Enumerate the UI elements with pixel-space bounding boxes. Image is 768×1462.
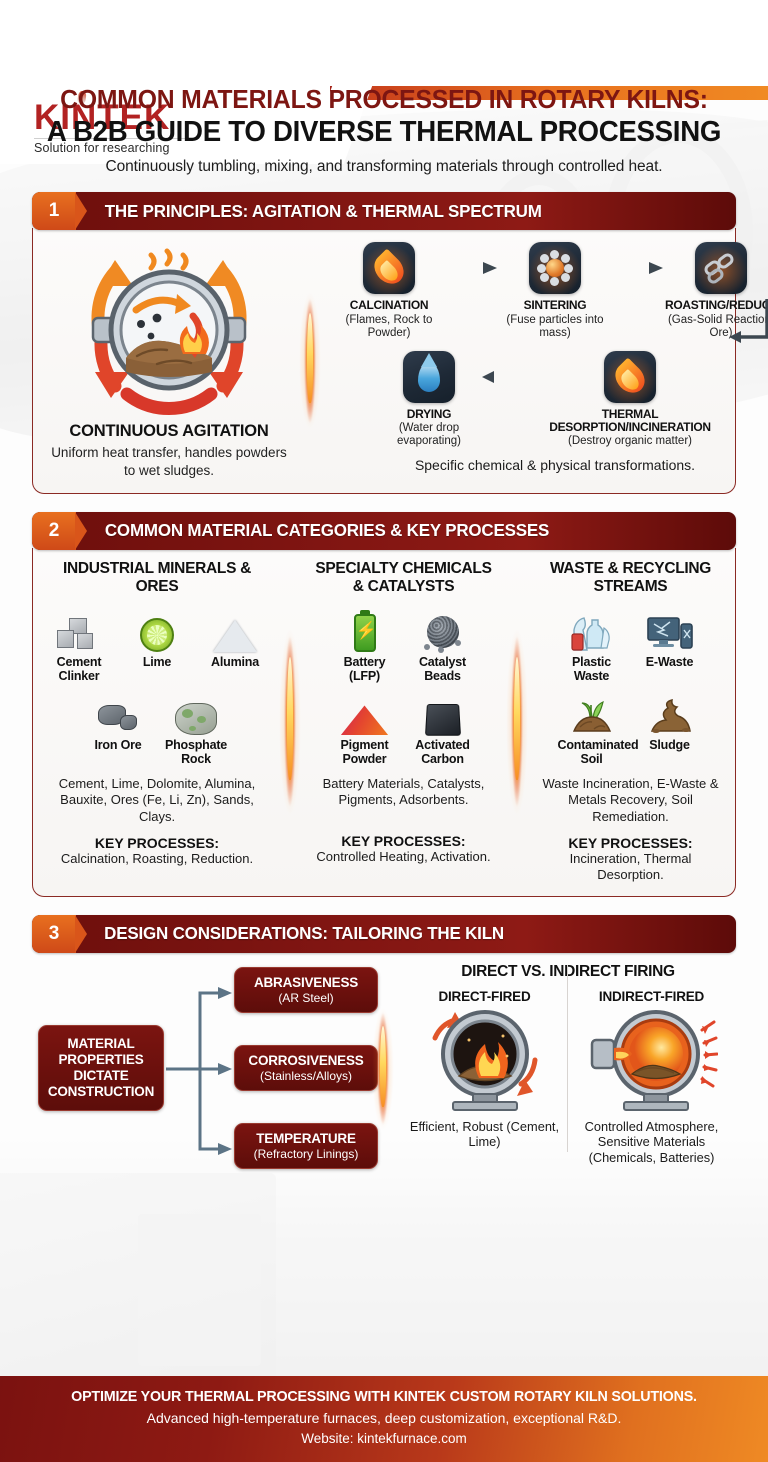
footer-website[interactable]: Website: kintekfurnace.com: [0, 1431, 768, 1446]
process-sub: (Flames, Rock to Powder): [333, 314, 445, 341]
footer-cta: OPTIMIZE YOUR THERMAL PROCESSING WITH KI…: [0, 1376, 768, 1462]
category-description: Waste Incineration, E-Waste & Metals Rec…: [538, 776, 723, 825]
flame-divider: [273, 560, 307, 884]
section-3-number: 3: [32, 915, 76, 953]
section-2-title: COMMON MATERIAL CATEGORIES & KEY PROCESS…: [105, 520, 549, 541]
water-drop-icon: [403, 351, 455, 403]
material-label: Sludge: [636, 739, 704, 753]
category-heading: WASTE & RECYCLING STREAMS: [538, 560, 723, 598]
page-title-line1: COMMON MATERIALS PROCESSED IN ROTARY KIL…: [31, 86, 737, 115]
section-2-body: INDUSTRIAL MINERALS & ORES Cement Clinke…: [32, 548, 736, 897]
material-contaminated-soil: Contaminated Soil: [558, 691, 626, 767]
continuous-agitation-block: CONTINUOUS AGITATION Uniform heat transf…: [45, 242, 293, 479]
material-label: Iron Ore: [84, 739, 152, 753]
section-1-number: 1: [32, 192, 76, 230]
battery-icon: [331, 608, 399, 652]
agitation-body: Uniform heat transfer, handles powders t…: [45, 444, 293, 479]
indirect-fired-column: INDIRECT-FIRED: [571, 989, 732, 1167]
rotary-kiln-drum-icon: [71, 246, 267, 416]
material-pigment-powder: Pigment Powder: [331, 691, 399, 767]
category-description: Cement, Lime, Dolomite, Alumina, Bauxite…: [45, 776, 269, 825]
page-title-line2: A B2B GUIDE TO DIVERSE THERMAL PROCESSIN…: [31, 117, 737, 149]
direct-fired-kiln-icon: [419, 1008, 551, 1116]
key-processes-label: KEY PROCESSES:: [538, 835, 723, 851]
arrow-right-icon: [447, 242, 497, 294]
process-name: SINTERING: [499, 299, 611, 312]
process-sub: (Water drop evaporating): [380, 422, 478, 449]
property-sub: (Refractory Linings): [240, 1147, 372, 1161]
section-2-categories: 2 COMMON MATERIAL CATEGORIES & KEY PROCE…: [32, 512, 736, 897]
firing-label: INDIRECT-FIRED: [571, 989, 732, 1004]
process-name: CALCINATION: [333, 299, 445, 312]
activated-carbon-icon: [409, 691, 477, 735]
section-3-title: DESIGN CONSIDERATIONS: TAILORING THE KIL…: [104, 923, 504, 944]
plastic-waste-icon: [558, 608, 626, 652]
material-cement-clinker: Cement Clinker: [45, 608, 113, 684]
indirect-fired-kiln-icon: [586, 1008, 718, 1116]
pigment-powder-icon: [331, 691, 399, 735]
category-specialty-chemicals: SPECIALTY CHEMICALS & CATALYSTS Battery …: [307, 560, 500, 884]
material-iron-ore: Iron Ore: [84, 691, 152, 767]
property-temperature: TEMPERATURE (Refractory Linings): [234, 1123, 378, 1169]
material-properties-tree: MATERIAL PROPERTIES DICTATE CONSTRUCTION…: [36, 963, 366, 1175]
material-label: Catalyst Beads: [409, 656, 477, 684]
material-phosphate-rock: Phosphate Rock: [162, 691, 230, 767]
material-alumina: Alumina: [201, 608, 269, 684]
material-label: Plastic Waste: [558, 656, 626, 684]
flame-icon: [604, 351, 656, 403]
root-label: MATERIAL PROPERTIES DICTATE CONSTRUCTION: [38, 1025, 164, 1112]
material-label: Activated Carbon: [409, 739, 477, 767]
firing-heading: DIRECT VS. INDIRECT FIRING: [404, 963, 732, 981]
property-label: TEMPERATURE: [240, 1131, 372, 1146]
property-label: CORROSIVENESS: [240, 1053, 372, 1068]
material-sludge: Sludge: [636, 691, 704, 767]
key-processes-value: Calcination, Roasting, Reduction.: [45, 851, 269, 867]
arrow-left-icon: [482, 351, 526, 403]
thermal-spectrum-block: CALCINATION (Flames, Rock to Powder): [327, 242, 768, 479]
firing-comparison: DIRECT VS. INDIRECT FIRING DIRECT-FIRED: [400, 963, 732, 1175]
header-titles: COMMON MATERIALS PROCESSED IN ROTARY KIL…: [0, 86, 768, 176]
material-label: Pigment Powder: [331, 739, 399, 767]
section-1-body: CONTINUOUS AGITATION Uniform heat transf…: [32, 228, 736, 494]
flame-divider: [366, 963, 400, 1175]
material-label: Battery (LFP): [331, 656, 399, 684]
section-1-header: 1 THE PRINCIPLES: AGITATION & THERMAL SP…: [32, 192, 736, 230]
cement-clinker-icon: [45, 608, 113, 652]
contaminated-soil-icon: [558, 691, 626, 735]
process-sintering: SINTERING (Fuse particles into mass): [499, 242, 611, 340]
firing-caption: Controlled Atmosphere, Sensitive Materia…: [571, 1119, 732, 1167]
process-drying: DRYING (Water drop evaporating): [380, 351, 478, 449]
agitation-heading: CONTINUOUS AGITATION: [45, 422, 293, 441]
category-heading: SPECIALTY CHEMICALS & CATALYSTS: [311, 560, 496, 598]
key-processes-value: Controlled Heating, Activation.: [311, 849, 496, 865]
firing-label: DIRECT-FIRED: [404, 989, 565, 1004]
direct-fired-column: DIRECT-FIRED: [404, 989, 565, 1167]
material-label: Alumina: [201, 656, 269, 670]
key-processes-label: KEY PROCESSES:: [311, 833, 496, 849]
lime-icon: [123, 608, 191, 652]
section-3-design: 3 DESIGN CONSIDERATIONS: TAILORING THE K…: [32, 915, 736, 1175]
process-sub: (Destroy organic matter): [530, 435, 730, 448]
material-battery: Battery (LFP): [331, 608, 399, 684]
category-industrial-minerals: INDUSTRIAL MINERALS & ORES Cement Clinke…: [41, 560, 273, 884]
property-label: ABRASIVENESS: [240, 975, 372, 990]
flame-divider: [293, 242, 327, 479]
material-plastic-waste: Plastic Waste: [558, 608, 626, 684]
e-waste-icon: [636, 608, 704, 652]
process-sub: (Fuse particles into mass): [499, 314, 611, 341]
property-abrasiveness: ABRASIVENESS (AR Steel): [234, 967, 378, 1013]
material-activated-carbon: Activated Carbon: [409, 691, 477, 767]
category-waste-recycling: WASTE & RECYCLING STREAMS Plastic Waste: [534, 560, 727, 884]
sludge-icon: [636, 691, 704, 735]
property-sub: (Stainless/Alloys): [240, 1069, 372, 1083]
key-processes-value: Incineration, Thermal Desorption.: [538, 851, 723, 884]
process-name: THERMAL DESORPTION/INCINERATION: [530, 408, 730, 435]
footer-line1: OPTIMIZE YOUR THERMAL PROCESSING WITH KI…: [8, 1389, 761, 1405]
firing-caption: Efficient, Robust (Cement, Lime): [404, 1119, 565, 1151]
chain-link-icon: [695, 242, 747, 294]
section-3-header: 3 DESIGN CONSIDERATIONS: TAILORING THE K…: [32, 915, 736, 953]
process-thermal-desorption: THERMAL DESORPTION/INCINERATION (Destroy…: [530, 351, 730, 449]
material-label: Contaminated Soil: [558, 739, 626, 767]
sintering-particle-icon: [529, 242, 581, 294]
property-sub: (AR Steel): [240, 991, 372, 1005]
material-catalyst-beads: Catalyst Beads: [409, 608, 477, 684]
key-processes-label: KEY PROCESSES:: [45, 835, 269, 851]
section-2-number: 2: [32, 512, 76, 550]
section-1-title: THE PRINCIPLES: AGITATION & THERMAL SPEC…: [105, 201, 542, 222]
page-subtitle: Continuously tumbling, mixing, and trans…: [20, 158, 748, 176]
section-1-principles: 1 THE PRINCIPLES: AGITATION & THERMAL SP…: [32, 192, 736, 494]
footer-line2: Advanced high-temperature furnaces, deep…: [0, 1410, 768, 1426]
section-3-body: MATERIAL PROPERTIES DICTATE CONSTRUCTION…: [32, 951, 736, 1175]
material-label: Cement Clinker: [45, 656, 113, 684]
material-label: Phosphate Rock: [162, 739, 230, 767]
iron-ore-icon: [84, 691, 152, 735]
alumina-powder-icon: [201, 608, 269, 652]
material-label: E-Waste: [636, 656, 704, 670]
process-calcination: CALCINATION (Flames, Rock to Powder): [333, 242, 445, 340]
flame-icon: [363, 242, 415, 294]
process-name: DRYING: [380, 408, 478, 421]
material-lime: Lime: [123, 608, 191, 684]
property-corrosiveness: CORROSIVENESS (Stainless/Alloys): [234, 1045, 378, 1091]
material-e-waste: E-Waste: [636, 608, 704, 684]
catalyst-beads-icon: [409, 608, 477, 652]
section-2-header: 2 COMMON MATERIAL CATEGORIES & KEY PROCE…: [32, 512, 736, 550]
section-1-footnote: Specific chemical & physical transformat…: [333, 457, 768, 473]
category-description: Battery Materials, Catalysts, Pigments, …: [311, 776, 496, 809]
flame-divider: [500, 560, 534, 884]
material-label: Lime: [123, 656, 191, 670]
arrow-right-icon: [613, 242, 663, 294]
phosphate-rock-icon: [162, 691, 230, 735]
category-heading: INDUSTRIAL MINERALS & ORES: [45, 560, 269, 598]
